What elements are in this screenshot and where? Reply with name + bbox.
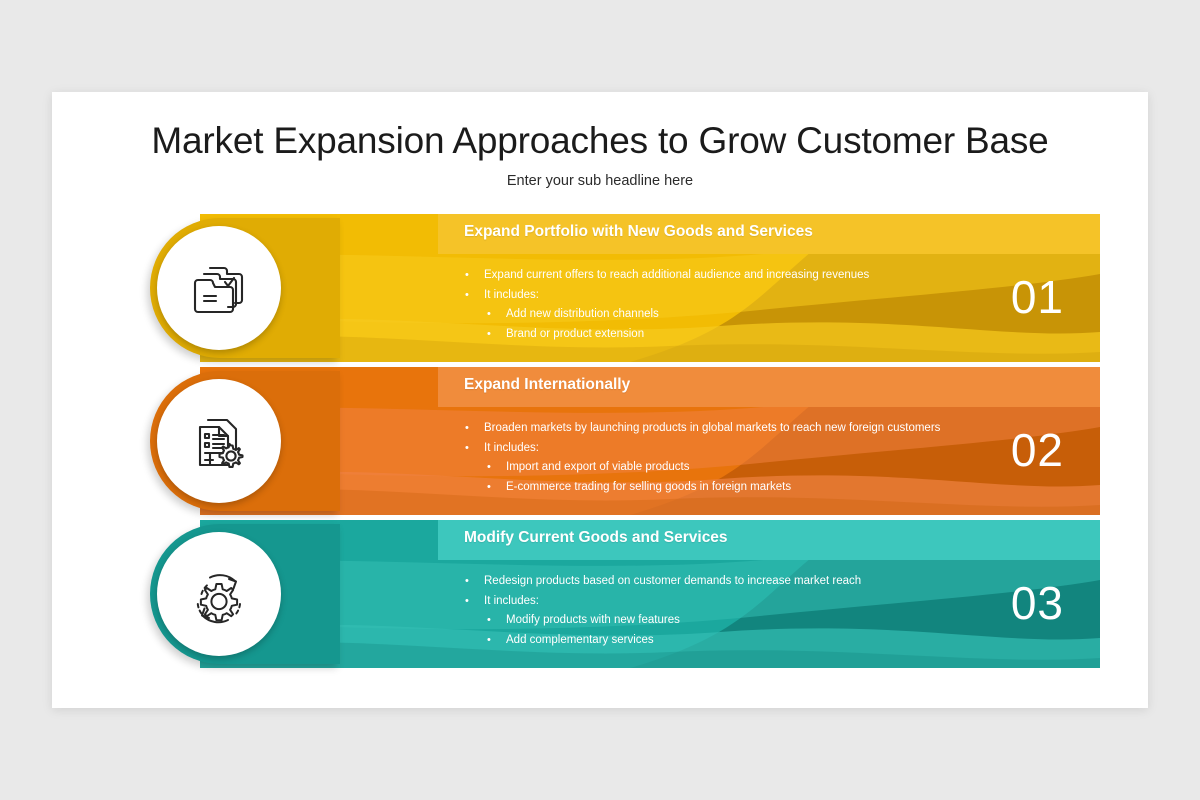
list-item: Add complementary services xyxy=(462,631,1100,651)
badge-circle xyxy=(157,532,281,656)
list-item: Brand or product extension xyxy=(462,325,1100,345)
list-item: Broaden markets by launching products in… xyxy=(462,419,1100,439)
badge-circle xyxy=(157,226,281,350)
list-item: E-commerce trading for selling goods in … xyxy=(462,478,1100,498)
list-item: Modify products with new features xyxy=(462,611,1100,631)
step-number: 02 xyxy=(1011,427,1064,473)
row-bullets: Broaden markets by launching products in… xyxy=(462,419,1100,497)
row-bullets: Redesign products based on customer dema… xyxy=(462,572,1100,650)
gear-refresh-icon xyxy=(185,560,253,628)
row-title: Modify Current Goods and Services xyxy=(464,529,728,547)
row-header-tab: Modify Current Goods and Services xyxy=(438,520,1100,560)
documents-gear-icon xyxy=(186,408,252,474)
list-item: It includes: xyxy=(462,439,1100,459)
row-icon-badge[interactable] xyxy=(150,371,340,511)
page-title: Market Expansion Approaches to Grow Cust… xyxy=(52,120,1148,162)
list-item: Import and export of viable products xyxy=(462,458,1100,478)
badge-circle xyxy=(157,379,281,503)
slide-card: Market Expansion Approaches to Grow Cust… xyxy=(52,92,1148,708)
list-item[interactable]: Expand Internationally Broaden markets b… xyxy=(52,367,1148,515)
row-header-tab: Expand Portfolio with New Goods and Serv… xyxy=(438,214,1100,254)
row-bullets: Expand current offers to reach additiona… xyxy=(462,266,1100,344)
list-item: Add new distribution channels xyxy=(462,305,1100,325)
list-item[interactable]: Expand Portfolio with New Goods and Serv… xyxy=(52,214,1148,362)
row-header-tab: Expand Internationally xyxy=(438,367,1100,407)
row-icon-badge[interactable] xyxy=(150,218,340,358)
list-item[interactable]: Modify Current Goods and Services Redesi… xyxy=(52,520,1148,668)
list-item: It includes: xyxy=(462,592,1100,612)
step-number: 03 xyxy=(1011,580,1064,626)
list-item: It includes: xyxy=(462,286,1100,306)
folder-check-icon xyxy=(186,255,252,321)
row-title: Expand Internationally xyxy=(464,376,630,394)
list-item: Redesign products based on customer dema… xyxy=(462,572,1100,592)
step-number: 01 xyxy=(1011,274,1064,320)
row-title: Expand Portfolio with New Goods and Serv… xyxy=(464,223,813,241)
row-icon-badge[interactable] xyxy=(150,524,340,664)
page-subtitle: Enter your sub headline here xyxy=(52,173,1148,189)
list-item: Expand current offers to reach additiona… xyxy=(462,266,1100,286)
